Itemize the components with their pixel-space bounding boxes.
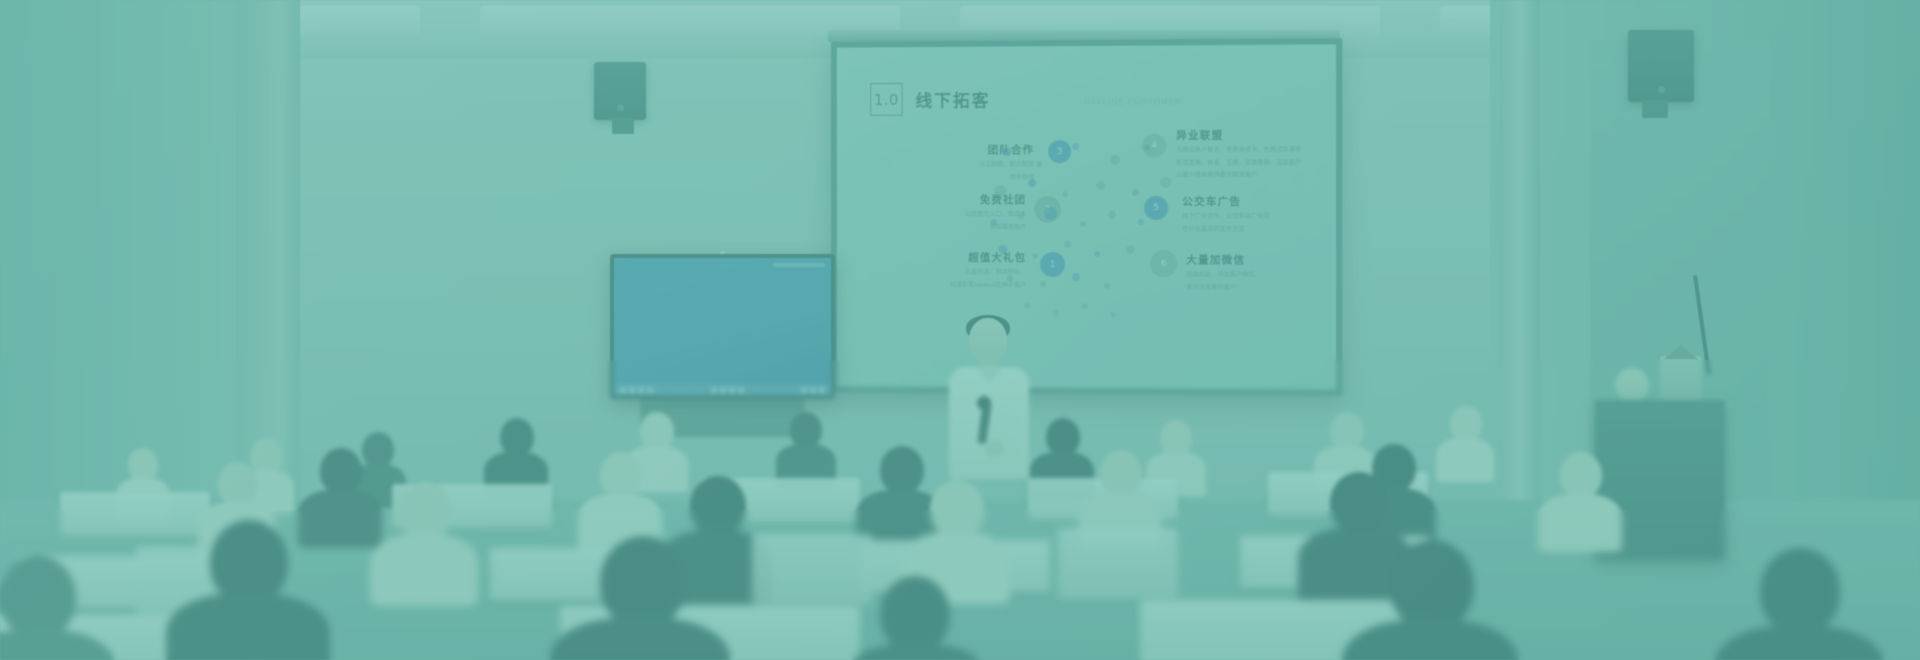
toolbar-center-group[interactable]	[711, 387, 744, 393]
projected-slide: 1.0 线下拓客 OFFLINE CUSTOMER 团队合作 分工明确、配合默契…	[837, 44, 1336, 389]
slide-item-right-0: 异业联盟 与周边商户联合，免费体验卡、免费试听课等 形式互换、共享、互推、资源置…	[1176, 127, 1336, 181]
presenter-head	[969, 318, 1007, 363]
home-icon[interactable]	[629, 387, 635, 393]
wall-speaker-right	[1628, 30, 1694, 102]
item-title: 大量加微信	[1186, 252, 1336, 267]
presenter	[935, 318, 1045, 478]
wall-speaker-left	[594, 62, 646, 120]
toolbar-right-group[interactable]	[801, 387, 825, 393]
settings-icon[interactable]	[810, 387, 816, 393]
interactive-whiteboard	[610, 254, 835, 399]
whiteboard-toolbar[interactable]	[614, 384, 831, 395]
select-icon[interactable]	[729, 387, 735, 393]
item-desc: 与周边商户联合，免费体验卡、免费试听课等	[1176, 145, 1336, 155]
chair	[1058, 528, 1178, 598]
item-desc: 重点培育意向客户	[1186, 283, 1336, 293]
whiteboard-screen[interactable]	[614, 258, 831, 395]
presenter-hand	[985, 440, 1004, 457]
chair	[752, 534, 872, 604]
shape-icon[interactable]	[738, 387, 744, 393]
volume-icon[interactable]	[801, 387, 807, 393]
seminar-banner: 1.0 线下拓客 OFFLINE CUSTOMER 团队合作 分工明确、配合默契…	[0, 0, 1920, 660]
bubble-cluster	[985, 141, 1175, 332]
item-desc: 性价比最高的宣传方式	[1182, 225, 1336, 235]
desk	[60, 492, 210, 536]
slide-subtitle: OFFLINE CUSTOMER	[1084, 98, 1182, 107]
slide-heading: 1.0 线下拓客	[870, 83, 990, 116]
speaker-bracket-right	[1642, 100, 1668, 118]
eraser-icon[interactable]	[720, 387, 726, 393]
item-desc: 线下广告宣传，公交车站广告是	[1182, 212, 1336, 222]
slide-item-right-1: 公交车广告 线下广告宣传，公交车站广告是 性价比最高的宣传方式	[1182, 194, 1336, 235]
slide-item-right-2: 大量加微信 创造机会、添加客户微信、 重点培育意向客户	[1186, 252, 1336, 293]
item-desc: 创造机会、添加客户微信、	[1186, 270, 1336, 280]
slide-title: 线下拓客	[915, 86, 990, 111]
item-title: 公交车广告	[1182, 194, 1336, 209]
slide-number-badge: 1.0	[870, 83, 902, 116]
item-title: 异业联盟	[1176, 127, 1336, 143]
power-icon[interactable]	[819, 387, 825, 393]
item-desc: 形式互换、共享、互推、资源置换、互送客户	[1176, 158, 1336, 168]
right-pillar	[1500, 0, 1540, 540]
apps-icon[interactable]	[647, 387, 653, 393]
classroom-photo: 1.0 线下拓客 OFFLINE CUSTOMER 团队合作 分工明确、配合默契…	[0, 0, 1920, 660]
brand-logo	[773, 263, 825, 267]
menu-icon[interactable]	[638, 387, 644, 393]
toolbar-left-group[interactable]	[620, 387, 653, 393]
back-icon[interactable]	[620, 387, 626, 393]
pen-icon[interactable]	[711, 387, 717, 393]
item-desc: 以最少成本获得最多精准客户	[1176, 171, 1336, 181]
podium-sign	[1660, 356, 1702, 402]
camera-icon	[720, 251, 725, 254]
podium-object	[1615, 368, 1649, 402]
speaker-bracket-left	[612, 118, 634, 134]
projection-screen: 1.0 线下拓客 OFFLINE CUSTOMER 团队合作 分工明确、配合默契…	[831, 38, 1342, 396]
